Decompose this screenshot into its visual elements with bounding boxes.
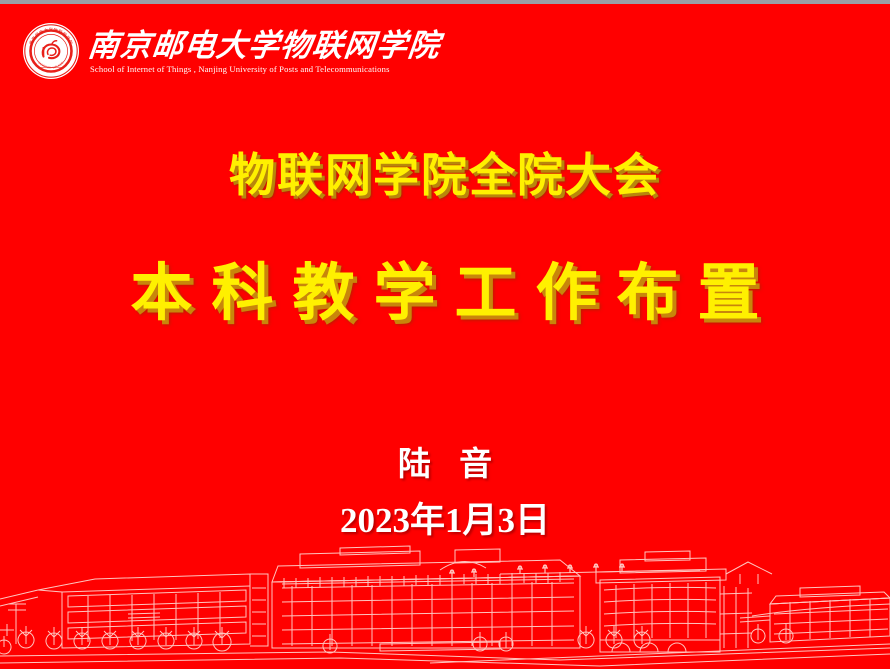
slide-title-main: 物联网学院全院大会 [0,150,890,203]
presenter-block: 陆 音 2023年1月3日 [0,446,890,542]
wordmark-chinese: 南京邮电大学物联网学院 [86,30,441,63]
campus-building-line-art [0,544,890,669]
window-top-bar [0,0,890,4]
slide-title-sub: 本科教学工作布置 [0,259,890,330]
institution-logo-lockup: 南京邮电大学物联网学院 SCHOOL OF IOT 南京邮电大学物联网学院 Sc… [22,22,440,80]
title-block: 物联网学院全院大会 本科教学工作布置 [0,150,890,330]
presenter-name: 陆 音 [0,446,890,486]
university-seal-icon: 南京邮电大学物联网学院 SCHOOL OF IOT [22,22,80,80]
presentation-date: 2023年1月3日 [0,500,890,542]
wordmark-english: School of Internet of Things , Nanjing U… [90,65,440,74]
presentation-slide: 南京邮电大学物联网学院 SCHOOL OF IOT 南京邮电大学物联网学院 Sc… [0,0,890,669]
wordmark: 南京邮电大学物联网学院 School of Internet of Things… [88,28,440,75]
